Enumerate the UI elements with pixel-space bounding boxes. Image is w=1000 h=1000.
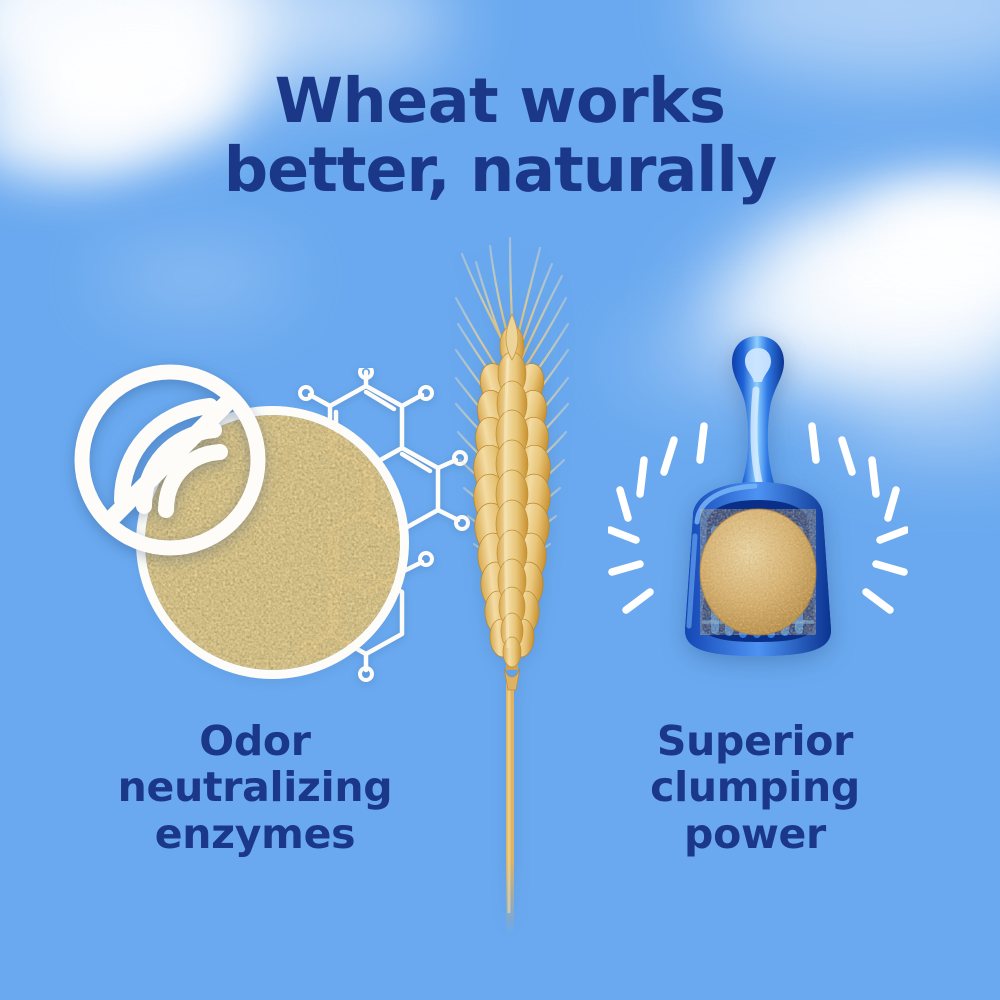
caption-right-line-2: clumping <box>570 764 940 810</box>
caption-left-line-1: Odor <box>55 718 455 764</box>
caption-left-line-2: neutralizing <box>55 764 455 810</box>
cloud-right-bank-main <box>760 195 1000 345</box>
feature-superior-clumping <box>608 330 908 690</box>
cloud-mid-left-wisp <box>100 250 290 305</box>
caption-odor-neutralizing: Odor neutralizing enzymes <box>55 718 455 857</box>
feature-odor-neutralizing <box>70 360 470 690</box>
caption-superior-clumping: Superior clumping power <box>570 718 940 857</box>
headline-line-2: better, naturally <box>0 135 1000 204</box>
no-dust-icon <box>70 360 270 560</box>
caption-right-line-1: Superior <box>570 718 940 764</box>
product-feature-panel: Wheat works better, naturally <box>0 0 1000 1000</box>
caption-left-line-3: enzymes <box>55 811 455 857</box>
caption-right-line-3: power <box>570 811 940 857</box>
litter-scoop-icon <box>663 330 853 680</box>
headline: Wheat works better, naturally <box>0 66 1000 205</box>
headline-line-1: Wheat works <box>0 66 1000 135</box>
